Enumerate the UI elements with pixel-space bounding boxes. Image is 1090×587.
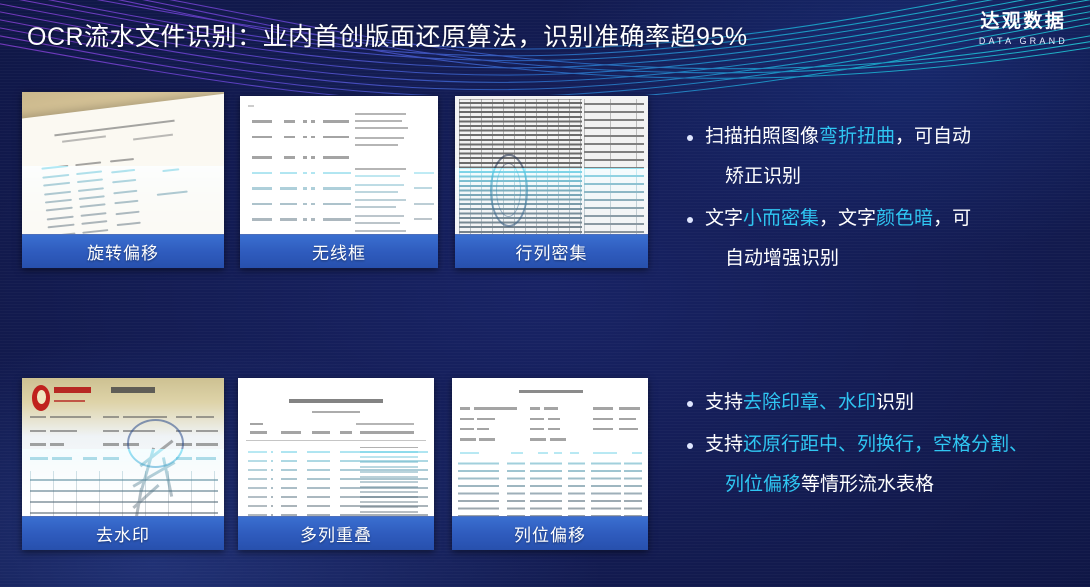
bullet-seg: ，可	[933, 208, 971, 229]
thumbnail-caption: 旋转偏移	[22, 234, 224, 268]
thumbnail-card-dense[interactable]: 行列密集	[455, 96, 648, 268]
bullet-seg-line2: 自动增强识别	[705, 239, 1080, 279]
bullet-seg-line2: 矫正识别	[705, 157, 1080, 197]
brand-logo: 达观数据 DATA GRAND	[979, 12, 1068, 46]
bullet-seg-highlight: 小而密集	[743, 208, 819, 229]
brand-name-en: DATA GRAND	[979, 37, 1068, 46]
thumbnail-caption: 去水印	[22, 516, 224, 550]
thumbnail-caption: 列位偏移	[452, 516, 648, 550]
bullet-seg-highlight: 还原行距中、列换行，空格分割、	[743, 434, 1028, 455]
brand-name-cn: 达观数据	[979, 12, 1068, 31]
thumbnail-caption: 多列重叠	[238, 516, 434, 550]
page-title: OCR流水文件识别：业内首创版面还原算法，识别准确率超95%	[27, 17, 748, 53]
bullet-seg: 等情形流水表格	[801, 474, 934, 495]
bullet-seg: 支持	[705, 392, 743, 413]
bullet-item: 文字小而密集，文字颜色暗，可 自动增强识别	[685, 199, 1080, 279]
bullet-seg-highlight: 颜色暗	[876, 208, 933, 229]
bullet-seg-highlight: 去除印章、水印	[743, 392, 876, 413]
bullet-seg: ，文字	[819, 208, 876, 229]
bullet-seg-highlight: 列位偏移	[725, 474, 801, 495]
thumbnail-caption: 行列密集	[455, 234, 648, 268]
bullet-seg: ，可自动	[895, 126, 971, 147]
bullet-item: 扫描拍照图像弯折扭曲，可自动 矫正识别	[685, 117, 1080, 197]
thumbnail-card-column-shift[interactable]: 列位偏移	[452, 378, 648, 550]
thumbnail-card-rotated-offset[interactable]: 旋转偏移	[22, 92, 224, 268]
bullet-seg: 支持	[705, 434, 743, 455]
thumbnail-caption: 无线框	[240, 234, 438, 268]
bullet-group-bottom: 支持去除印章、水印识别 支持还原行距中、列换行，空格分割、 列位偏移等情形流水表…	[685, 383, 1083, 507]
bullet-group-top: 扫描拍照图像弯折扭曲，可自动 矫正识别 文字小而密集，文字颜色暗，可 自动增强识…	[685, 117, 1080, 281]
bullet-seg: 文字	[705, 208, 743, 229]
thumbnail-card-watermark-removal[interactable]: 去水印	[22, 378, 224, 550]
slide-canvas: OCR流水文件识别：业内首创版面还原算法，识别准确率超95% 达观数据 DATA…	[0, 0, 1090, 587]
bullet-item: 支持还原行距中、列换行，空格分割、 列位偏移等情形流水表格	[685, 425, 1083, 505]
bullet-seg-line2: 列位偏移等情形流水表格	[705, 465, 1083, 505]
thumbnail-card-multi-column[interactable]: 多列重叠	[238, 378, 434, 550]
bullet-item: 支持去除印章、水印识别	[685, 383, 1083, 423]
bullet-seg: 扫描拍照图像	[705, 126, 819, 147]
bullet-seg: 识别	[876, 392, 914, 413]
bullet-seg-highlight: 弯折扭曲	[819, 126, 895, 147]
thumbnail-card-borderless[interactable]: 无线框	[240, 96, 438, 268]
